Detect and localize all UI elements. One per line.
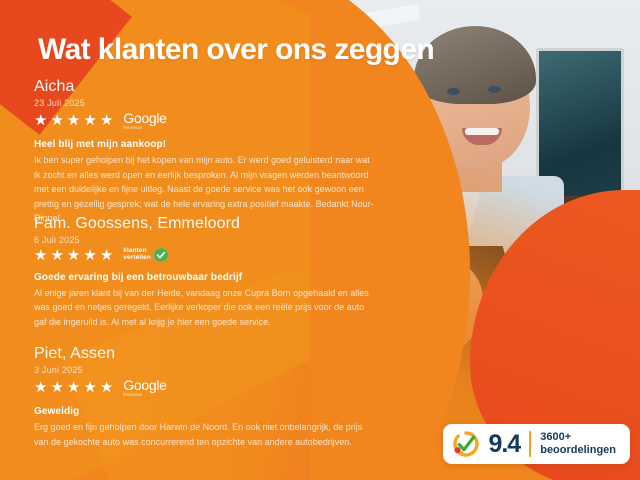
google-reviews-badge: Google Reviews bbox=[123, 378, 166, 398]
review-count: 3600+ bbox=[540, 431, 616, 444]
score-divider bbox=[529, 431, 531, 457]
star-icon: ★ bbox=[83, 113, 96, 128]
google-reviews-subtitle: Reviews bbox=[123, 393, 142, 398]
star-icon: ★ bbox=[83, 380, 96, 395]
star-icon: ★ bbox=[67, 380, 80, 395]
review-meta: ★★★★★ klanten vertellen bbox=[34, 248, 376, 263]
reviewer-name: Aicha bbox=[34, 78, 376, 96]
google-reviews-subtitle: Reviews bbox=[123, 126, 142, 131]
review-card: Fam. Goossens, Emmeloord 6 Juli 2025 ★★★… bbox=[34, 215, 376, 329]
review-count-label: beoordelingen bbox=[540, 444, 616, 457]
overall-score-badge[interactable]: 9.4 3600+ beoordelingen bbox=[443, 424, 630, 464]
star-icon: ★ bbox=[67, 248, 80, 263]
star-icon: ★ bbox=[34, 248, 47, 263]
star-icon: ★ bbox=[50, 248, 63, 263]
reviewer-name: Fam. Goossens, Emmeloord bbox=[34, 215, 376, 233]
star-icon: ★ bbox=[50, 380, 63, 395]
google-wordmark: Google bbox=[123, 111, 166, 125]
star-icon: ★ bbox=[100, 248, 113, 263]
checkmark-circle-icon bbox=[154, 248, 168, 262]
star-icon: ★ bbox=[50, 113, 63, 128]
star-icon: ★ bbox=[67, 113, 80, 128]
klantenvertellen-wordmark: klanten vertellen bbox=[123, 248, 151, 262]
score-value: 9.4 bbox=[488, 432, 520, 457]
star-icon: ★ bbox=[83, 248, 96, 263]
review-body: Al enige jaren klant bij van der Heide, … bbox=[34, 286, 376, 330]
star-icon: ★ bbox=[34, 380, 47, 395]
star-icon: ★ bbox=[100, 113, 113, 128]
star-rating: ★★★★★ bbox=[34, 113, 113, 128]
review-card: Aicha 23 Juli 2025 ★★★★★ Google Reviews … bbox=[34, 78, 376, 226]
star-rating: ★★★★★ bbox=[34, 248, 113, 263]
star-icon: ★ bbox=[100, 380, 113, 395]
review-date: 3 Juni 2025 bbox=[34, 365, 376, 375]
testimonial-banner: VDH Wat klanten over ons zeggen Aicha 23… bbox=[0, 0, 640, 480]
review-date: 23 Juli 2025 bbox=[34, 98, 376, 108]
page-title: Wat klanten over ons zeggen bbox=[38, 33, 434, 67]
review-meta: ★★★★★ Google Reviews bbox=[34, 111, 376, 131]
review-title: Geweldig bbox=[34, 406, 376, 417]
score-count-block: 3600+ beoordelingen bbox=[540, 431, 616, 457]
star-icon: ★ bbox=[34, 113, 47, 128]
review-title: Goede ervaring bij een betrouwbaar bedri… bbox=[34, 272, 376, 283]
review-date: 6 Juli 2025 bbox=[34, 235, 376, 245]
klantenvertellen-badge: klanten vertellen bbox=[123, 248, 168, 262]
review-body: Erg goed en fijn geholpen door Harwin de… bbox=[34, 420, 376, 449]
content-layer: Wat klanten over ons zeggen Aicha 23 Jul… bbox=[0, 0, 640, 480]
review-card: Piet, Assen 3 Juni 2025 ★★★★★ Google Rev… bbox=[34, 345, 376, 449]
star-rating: ★★★★★ bbox=[34, 380, 113, 395]
google-reviews-badge: Google Reviews bbox=[123, 111, 166, 131]
kiyoh-check-icon bbox=[453, 431, 479, 457]
google-wordmark: Google bbox=[123, 378, 166, 392]
reviewer-name: Piet, Assen bbox=[34, 345, 376, 363]
review-title: Heel blij met mijn aankoop! bbox=[34, 139, 376, 150]
review-meta: ★★★★★ Google Reviews bbox=[34, 378, 376, 398]
klantenvertellen-line2: vertellen bbox=[123, 255, 151, 262]
